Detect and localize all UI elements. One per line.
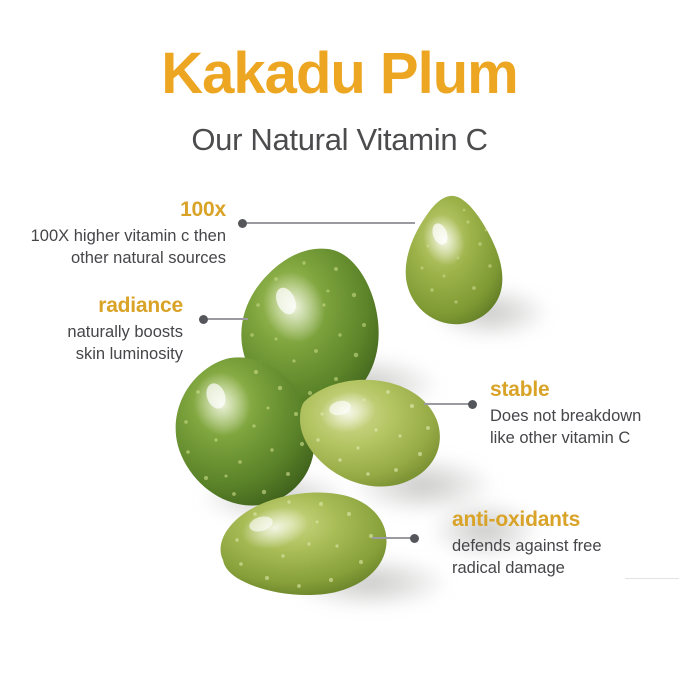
callout-potency-label: 100x — [0, 199, 226, 221]
callout-radiance-desc-line2: skin luminosity — [0, 344, 183, 366]
connector-dot-radiance — [199, 315, 208, 324]
connector-line-potency — [247, 222, 415, 224]
bottom-hairline — [625, 578, 679, 579]
infographic-canvas: Kakadu Plum Our Natural Vitamin C — [0, 0, 679, 679]
connector-line-radiance — [208, 318, 248, 320]
callout-radiance-desc-line1: naturally boosts — [0, 322, 183, 344]
callout-potency-description: 100X higher vitamin c then other natural… — [0, 226, 226, 270]
connector-dot-stable — [468, 400, 477, 409]
callout-stable: stable Does not breakdown like other vit… — [490, 379, 679, 450]
callout-radiance-description: naturally boosts skin luminosity — [0, 322, 183, 366]
callout-antioxidants-label: anti-oxidants — [452, 509, 679, 531]
connector-dot-antioxidants — [410, 534, 419, 543]
callout-potency-desc-line2: other natural sources — [0, 248, 226, 270]
callout-stable-desc-line1: Does not breakdown — [490, 406, 679, 428]
callout-antioxidants-desc-line2: radical damage — [452, 558, 679, 580]
callout-radiance: radiance naturally boosts skin luminosit… — [0, 295, 183, 366]
callout-radiance-label: radiance — [0, 295, 183, 317]
callout-potency: 100x 100X higher vitamin c then other na… — [0, 199, 226, 270]
plum-bottom — [213, 486, 393, 604]
callout-stable-desc-line2: like other vitamin C — [490, 428, 679, 450]
callout-stable-description: Does not breakdown like other vitamin C — [490, 406, 679, 450]
plum-top-right — [398, 192, 518, 332]
callout-antioxidants-description: defends against free radical damage — [452, 536, 679, 580]
callout-antioxidants-desc-line1: defends against free — [452, 536, 679, 558]
connector-dot-potency — [238, 219, 247, 228]
plum-middle-right — [296, 374, 446, 489]
callout-potency-desc-line1: 100X higher vitamin c then — [0, 226, 226, 248]
connector-line-stable — [424, 403, 472, 405]
connector-line-antioxidants — [372, 537, 414, 539]
callout-stable-label: stable — [490, 379, 679, 401]
callout-antioxidants: anti-oxidants defends against free radic… — [452, 509, 679, 580]
